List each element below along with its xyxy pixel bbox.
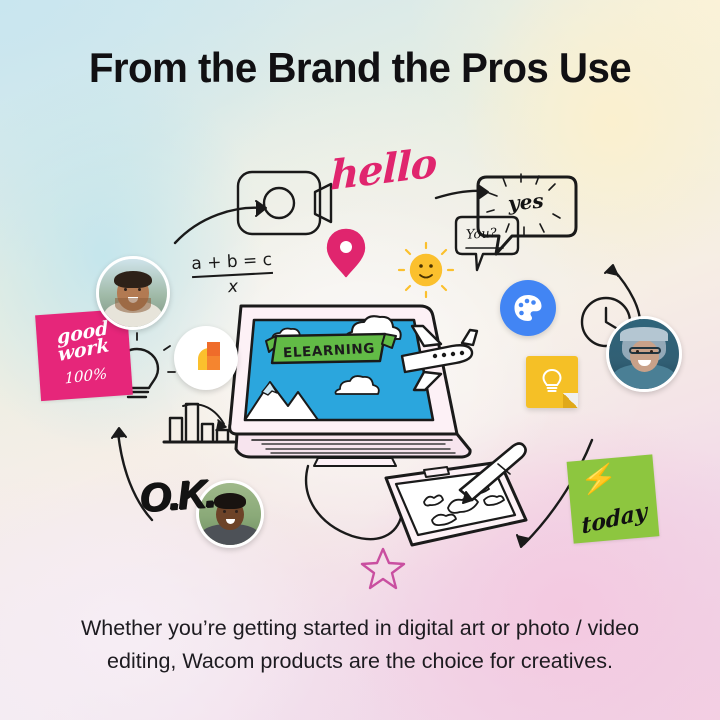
video-camera-icon — [238, 172, 320, 234]
equation-denominator: x — [192, 272, 274, 299]
star-icon — [362, 549, 404, 588]
note-line-3: 100% — [64, 364, 107, 387]
yes-bubble-shape — [478, 177, 576, 254]
you-bubble-text: You? — [466, 226, 497, 243]
ok-script: O.K. — [139, 471, 216, 521]
footer-line-1: Whether you’re getting started in digita… — [52, 612, 668, 645]
arrow-path-right — [612, 268, 640, 322]
equation-numerator: a + b = c — [191, 250, 273, 274]
today-note: ⚡ today — [567, 454, 660, 543]
today-note-label: today — [581, 498, 648, 539]
poster-canvas: From the Brand the Pros Use — [0, 0, 720, 720]
avatar-person-1 — [96, 256, 170, 330]
lightning-bolt-icon: ⚡ — [580, 464, 619, 496]
pen-tablet-illustration — [386, 444, 526, 546]
equation-scribble: a + b = c x — [191, 250, 274, 299]
arrow-path-top-left — [175, 208, 262, 243]
footer-line-2: editing, Wacom products are the choice f… — [52, 645, 668, 678]
google-keep-icon — [174, 326, 238, 390]
lightbulb-note-icon — [526, 356, 578, 408]
sun-smile-icon — [411, 255, 441, 285]
avatar-person-2 — [606, 316, 682, 392]
footer-copy: Whether you’re getting started in digita… — [52, 612, 668, 678]
yes-bubble-text: yes — [507, 188, 545, 215]
palette-icon — [500, 280, 556, 336]
laptop-illustration — [230, 306, 470, 466]
